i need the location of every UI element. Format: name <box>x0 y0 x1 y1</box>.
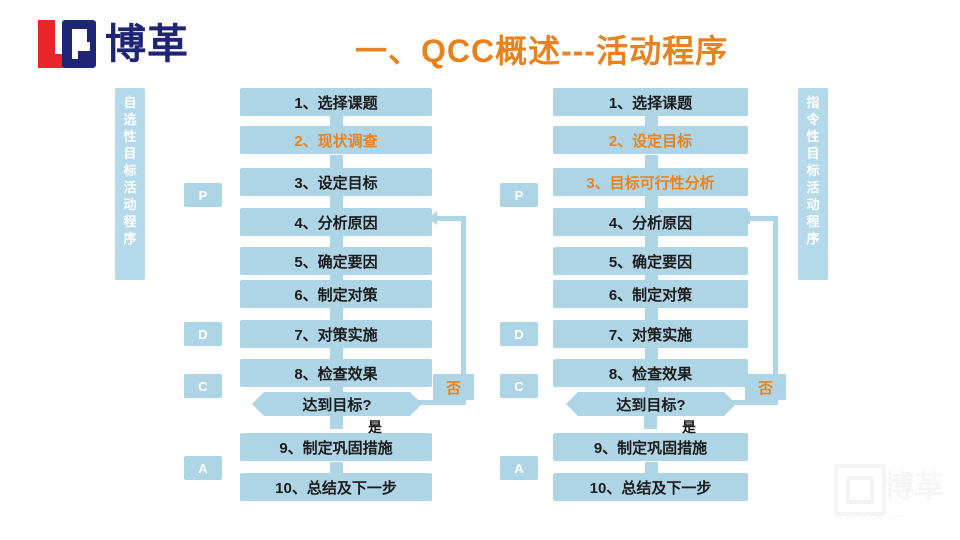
left-side-label-char: 选 <box>115 111 145 128</box>
right-step-box[interactable]: 4、分析原因 <box>553 208 748 236</box>
left-step-box[interactable]: 7、对策实施 <box>240 320 432 348</box>
right-side-label-char: 令 <box>798 111 828 128</box>
right-loop-horizontal-top <box>750 216 778 221</box>
right-side-label-char: 程 <box>798 213 828 230</box>
left-side-label-char: 程 <box>115 213 145 230</box>
bg-monogram-icon <box>38 20 96 68</box>
left-side-label-char: 活 <box>115 179 145 196</box>
left-loop-vertical <box>461 216 466 405</box>
left-pdca-a: A <box>184 456 222 480</box>
left-side-label-char: 性 <box>115 128 145 145</box>
right-side-label-char: 动 <box>798 196 828 213</box>
left-step-box[interactable]: 2、现状调查 <box>240 126 432 154</box>
right-step-box[interactable]: 3、目标可行性分析 <box>553 168 748 196</box>
right-side-label-char: 活 <box>798 179 828 196</box>
right-pdca-a: A <box>500 456 538 480</box>
left-step-box[interactable]: 9、制定巩固措施 <box>240 433 432 461</box>
left-side-label-char: 目 <box>115 145 145 162</box>
left-step-box[interactable]: 3、设定目标 <box>240 168 432 196</box>
right-side-label: 指令性目标活动程序 <box>798 88 828 280</box>
right-decision: 达到目标? <box>566 392 736 416</box>
right-step-box[interactable]: 2、设定目标 <box>553 126 748 154</box>
left-side-label-char: 动 <box>115 196 145 213</box>
right-connector-diamond-to-9 <box>644 416 657 429</box>
logo-blue-shape <box>62 20 96 68</box>
left-step-box[interactable]: 6、制定对策 <box>240 280 432 308</box>
right-side-label-char: 序 <box>798 230 828 247</box>
left-side-label: 自选性目标活动程序 <box>115 88 145 280</box>
right-yes-label: 是 <box>682 417 696 437</box>
slide-canvas: 博革 一、QCC概述---活动程序 自选性目标活动程序 P D C A 1、选择… <box>0 0 960 540</box>
right-step-box[interactable]: 7、对策实施 <box>553 320 748 348</box>
logo-wordmark: 博革 <box>105 20 189 68</box>
left-step-box[interactable]: 4、分析原因 <box>240 208 432 236</box>
left-step-box[interactable]: 1、选择课题 <box>240 88 432 116</box>
watermark-logo-icon <box>834 464 886 516</box>
left-step-box[interactable]: 10、总结及下一步 <box>240 473 432 501</box>
right-pdca-p: P <box>500 183 538 207</box>
right-pdca-c: C <box>500 374 538 398</box>
right-side-label-char: 标 <box>798 162 828 179</box>
left-side-label-char: 自 <box>115 94 145 111</box>
right-pdca-d: D <box>500 322 538 346</box>
page-title: 一、QCC概述---活动程序 <box>355 26 825 72</box>
left-side-label-char: 序 <box>115 230 145 247</box>
left-loop-arrow-icon <box>428 211 437 225</box>
right-side-label-char: 性 <box>798 128 828 145</box>
right-step-box[interactable]: 10、总结及下一步 <box>553 473 748 501</box>
watermark: 博革 www.bogle.com <box>834 464 946 530</box>
left-pdca-d: D <box>184 322 222 346</box>
watermark-url: www.bogle.com <box>836 512 906 522</box>
watermark-text: 博革 <box>884 466 944 510</box>
right-connector-arrow-icon <box>645 155 658 168</box>
right-side-label-char: 目 <box>798 145 828 162</box>
left-loop-horizontal-top <box>437 216 466 221</box>
left-decision: 达到目标? <box>252 392 422 416</box>
right-no-label: 否 <box>745 374 786 400</box>
right-step-box[interactable]: 1、选择课题 <box>553 88 748 116</box>
right-loop-arrow-icon <box>741 211 750 225</box>
left-connector-diamond-to-9 <box>330 416 343 429</box>
company-logo: 博革 <box>38 20 189 68</box>
right-step-box[interactable]: 6、制定对策 <box>553 280 748 308</box>
left-side-label-char: 标 <box>115 162 145 179</box>
left-no-label: 否 <box>433 374 474 400</box>
right-loop-horizontal-bottom <box>732 400 778 405</box>
left-yes-label: 是 <box>368 417 382 437</box>
right-step-box[interactable]: 9、制定巩固措施 <box>553 433 748 461</box>
logo-red-shape <box>38 20 55 68</box>
left-connector-arrow-icon <box>330 155 343 168</box>
left-loop-horizontal-bottom <box>418 400 466 405</box>
left-pdca-c: C <box>184 374 222 398</box>
left-pdca-p: P <box>184 183 222 207</box>
right-side-label-char: 指 <box>798 94 828 111</box>
right-loop-vertical <box>773 216 778 405</box>
